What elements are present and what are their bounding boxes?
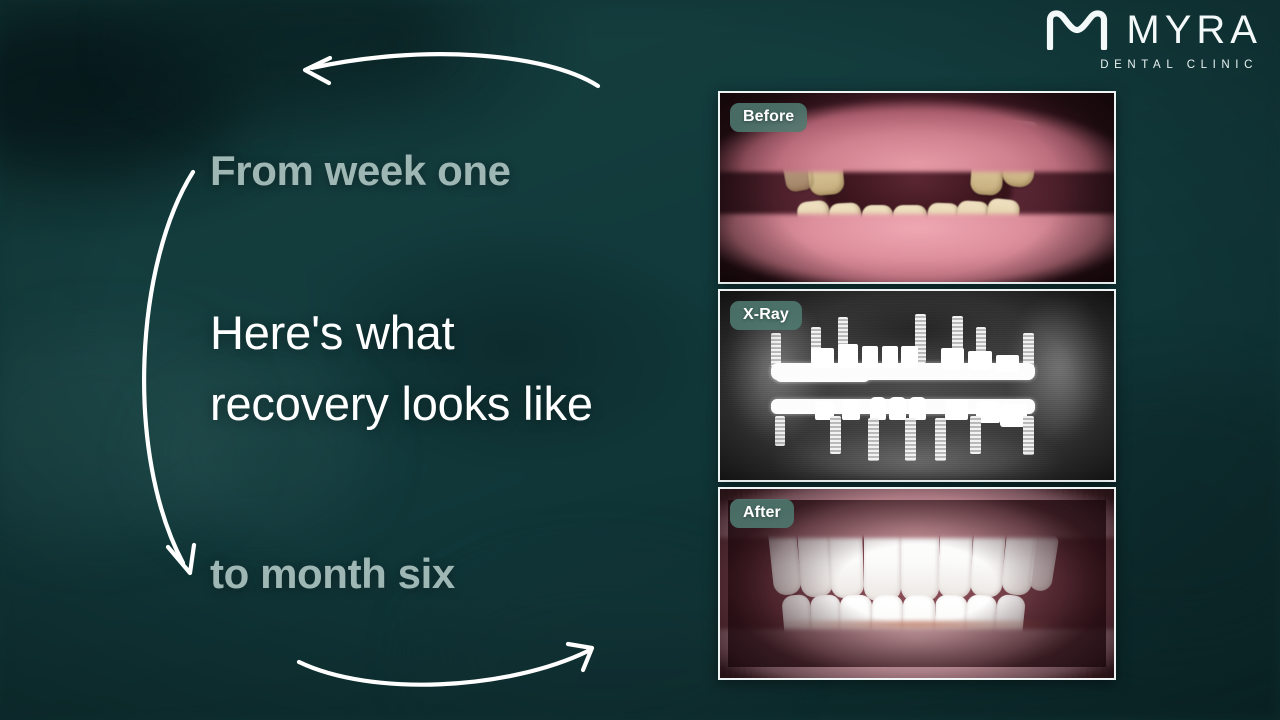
panel-before[interactable]: Before: [718, 91, 1116, 284]
panel-badge-xray: X-Ray: [730, 301, 802, 330]
brand-name: MYRA: [1126, 8, 1262, 50]
brand-logo: MYRA DENTAL CLINIC: [1046, 8, 1262, 71]
headline: Here's what recovery looks like: [210, 298, 593, 439]
brand-tagline: DENTAL CLINIC: [1100, 59, 1258, 71]
panel-badge-after: After: [730, 499, 794, 528]
panel-badge-before: Before: [730, 103, 807, 132]
brand-logo-row: MYRA: [1046, 8, 1262, 50]
headline-line-2: recovery looks like: [210, 369, 593, 440]
kicker-start-text: From week one: [210, 150, 511, 192]
photo-panel-stack: Before: [718, 91, 1116, 680]
kicker-end-text: to month six: [210, 553, 455, 595]
panel-after[interactable]: After: [718, 487, 1116, 680]
headline-line-1: Here's what: [210, 298, 593, 369]
panel-xray[interactable]: X-Ray: [718, 289, 1116, 482]
myra-m-smile-logo-icon: [1046, 8, 1108, 50]
slide-canvas: MYRA DENTAL CLINIC From week one Here's …: [0, 0, 1280, 720]
